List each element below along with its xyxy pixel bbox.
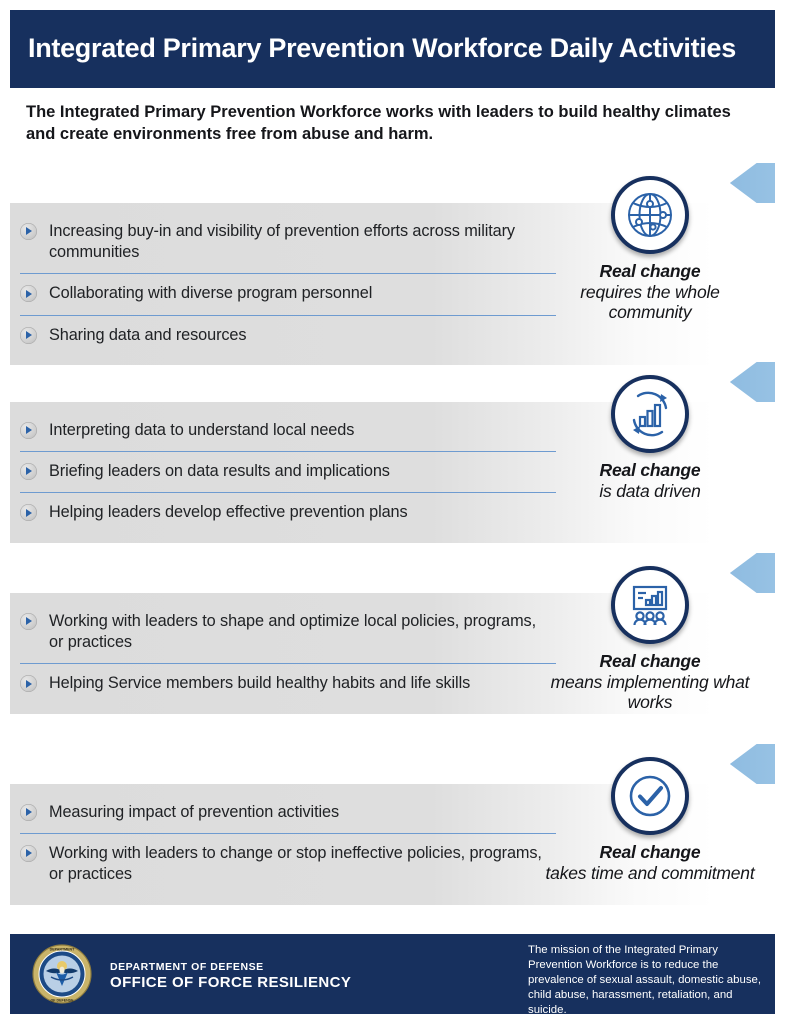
list-item-label: Working with leaders to shape and optimi…: [49, 611, 548, 653]
triangle-bullet-icon: [20, 613, 37, 630]
page-title: Integrated Primary Prevention Workforce …: [28, 34, 736, 64]
list-item-label: Working with leaders to change or stop i…: [49, 843, 548, 885]
bullet-list: Measuring impact of prevention activitie…: [10, 793, 556, 896]
list-item-label: Helping leaders develop effective preven…: [49, 502, 408, 523]
list-item-label: Collaborating with diverse program perso…: [49, 283, 372, 304]
list-item-label: Measuring impact of prevention activitie…: [49, 802, 339, 823]
section-caption: Real change is data driven: [545, 460, 755, 501]
caption-rest: takes time and commitment: [545, 863, 755, 884]
list-item-label: Increasing buy-in and visibility of prev…: [49, 221, 548, 263]
list-item-label: Sharing data and resources: [49, 325, 246, 346]
section-icon-column: Real change takes time and commitment: [545, 757, 755, 883]
svg-text:OF DEFENSE: OF DEFENSE: [51, 998, 75, 1002]
caption-rest: requires the whole community: [545, 282, 755, 323]
section-sustaining-progress-over-time: Sustaining Progress Over Time Measuring …: [0, 744, 785, 905]
section-title: Empowering Leaders with Data and Researc…: [28, 369, 497, 395]
list-item: Measuring impact of prevention activitie…: [20, 793, 556, 834]
list-item: Collaborating with diverse program perso…: [20, 274, 556, 315]
list-item: Helping Service members build healthy ha…: [20, 664, 556, 704]
caption-lead: Real change: [545, 842, 755, 863]
bullet-list: Increasing buy-in and visibility of prev…: [10, 212, 556, 356]
list-item-label: Briefing leaders on data results and imp…: [49, 461, 390, 482]
list-item: Sharing data and resources: [20, 316, 556, 356]
list-item: Increasing buy-in and visibility of prev…: [20, 212, 556, 274]
triangle-bullet-icon: [20, 463, 37, 480]
section-title: Engaging the Community: [28, 170, 290, 196]
caption-lead: Real change: [545, 460, 755, 481]
caption-lead: Real change: [545, 261, 755, 282]
triangle-bullet-icon: [20, 422, 37, 439]
bar-chart-refresh-icon: [611, 375, 689, 453]
list-item: Helping leaders develop effective preven…: [20, 493, 556, 533]
dod-wordmark: DEPARTMENT OF DEFENSE OFFICE OF FORCE RE…: [110, 961, 351, 991]
triangle-bullet-icon: [20, 804, 37, 821]
globe-network-icon: [611, 176, 689, 254]
intro-statement: The Integrated Primary Prevention Workfo…: [26, 102, 750, 146]
presentation-audience-icon: [611, 566, 689, 644]
section-caption: Real change requires the whole community: [545, 261, 755, 323]
caption-rest: is data driven: [545, 481, 755, 502]
list-item-label: Interpreting data to understand local ne…: [49, 420, 354, 441]
list-item: Briefing leaders on data results and imp…: [20, 452, 556, 493]
dod-org-line-1: DEPARTMENT OF DEFENSE: [110, 961, 351, 973]
mission-statement: The mission of the Integrated Primary Pr…: [528, 943, 766, 1018]
section-engaging-the-community: Engaging the Community Increasing buy-in…: [0, 163, 785, 365]
section-empowering-leaders-with-data-and-research: Empowering Leaders with Data and Researc…: [0, 362, 785, 543]
section-title: Implementing Prevention Activities: [28, 560, 387, 586]
section-caption: Real change means implementing what work…: [545, 651, 755, 713]
triangle-bullet-icon: [20, 285, 37, 302]
bullet-list: Working with leaders to shape and optimi…: [10, 602, 556, 705]
bullet-list: Interpreting data to understand local ne…: [10, 411, 556, 534]
list-item: Working with leaders to change or stop i…: [20, 834, 556, 895]
poster-title-bar: Integrated Primary Prevention Workforce …: [10, 10, 775, 88]
svg-text:DEPARTMENT: DEPARTMENT: [50, 948, 75, 952]
section-icon-column: Real change means implementing what work…: [545, 566, 755, 713]
caption-lead: Real change: [545, 651, 755, 672]
infographic-poster: Integrated Primary Prevention Workforce …: [0, 0, 785, 1024]
section-implementing-prevention-activities: Implementing Prevention Activities Worki…: [0, 553, 785, 714]
section-title: Sustaining Progress Over Time: [28, 751, 349, 777]
list-item: Interpreting data to understand local ne…: [20, 411, 556, 452]
caption-rest: means implementing what works: [545, 672, 755, 713]
department-of-defense-seal-icon: DEPARTMENT OF DEFENSE: [32, 944, 92, 1004]
dod-org-line-2: OFFICE OF FORCE RESILIENCY: [110, 974, 351, 991]
list-item: Working with leaders to shape and optimi…: [20, 602, 556, 664]
section-icon-column: Real change is data driven: [545, 375, 755, 501]
section-caption: Real change takes time and commitment: [545, 842, 755, 883]
poster-footer: DEPARTMENT OF DEFENSE DEPARTMENT OF DEFE…: [10, 934, 775, 1014]
triangle-bullet-icon: [20, 327, 37, 344]
check-circle-icon: [611, 757, 689, 835]
section-icon-column: Real change requires the whole community: [545, 176, 755, 323]
triangle-bullet-icon: [20, 845, 37, 862]
triangle-bullet-icon: [20, 504, 37, 521]
triangle-bullet-icon: [20, 223, 37, 240]
list-item-label: Helping Service members build healthy ha…: [49, 673, 470, 694]
triangle-bullet-icon: [20, 675, 37, 692]
